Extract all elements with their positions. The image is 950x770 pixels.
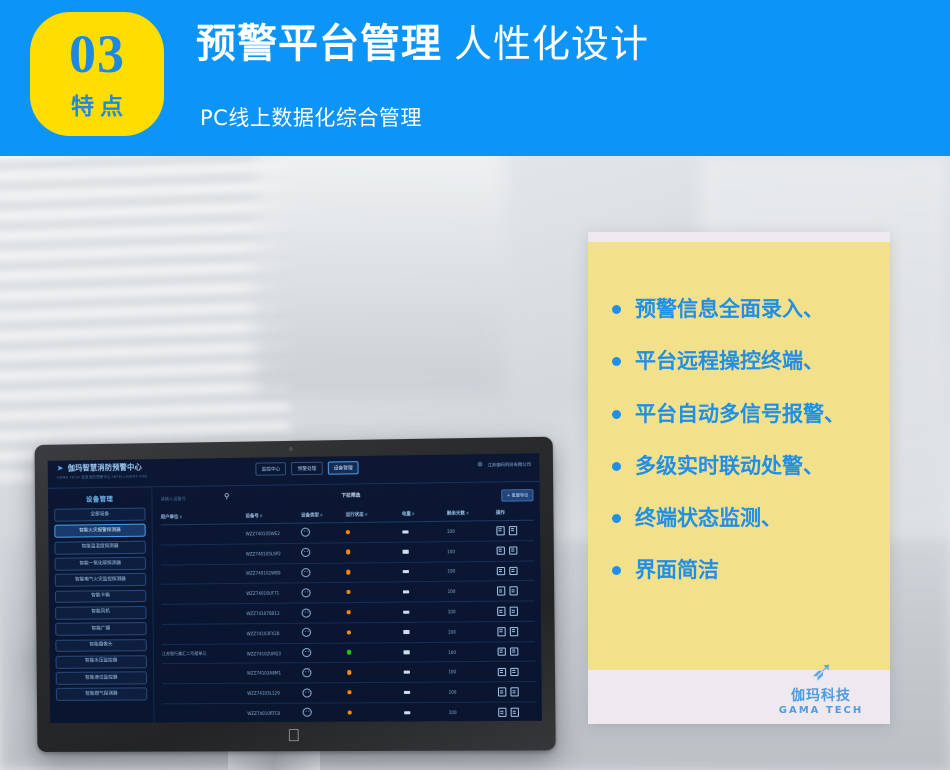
- detector-icon: [302, 588, 311, 597]
- status-badge: [346, 590, 351, 594]
- cell-device-id: WZZ74010UF71: [246, 583, 302, 604]
- company-name: 江苏伽玛科技有限公司: [488, 462, 532, 469]
- cell-unit: [162, 664, 247, 684]
- cell-battery: [403, 642, 448, 662]
- cell-battery: [402, 562, 447, 583]
- cell-device-type: [302, 603, 347, 623]
- battery-icon: [403, 650, 409, 653]
- nav-item-alarm-handling[interactable]: 预警处理: [291, 462, 322, 476]
- cell-unit: [161, 524, 246, 545]
- cell-device-type: [301, 523, 346, 544]
- cell-days-left: 100: [448, 682, 497, 702]
- sidebar-title: 设备管理: [54, 493, 145, 503]
- sidebar-item-gas-detector[interactable]: 智能燃气探测器: [56, 688, 147, 701]
- cell-days-left: 100: [448, 601, 497, 622]
- cell-status: [347, 602, 403, 623]
- sidebar-item-smart-broadcast[interactable]: 智能广播: [55, 622, 146, 636]
- detector-icon: [302, 648, 311, 657]
- edit-icon[interactable]: [497, 667, 505, 676]
- delete-icon[interactable]: [510, 688, 518, 697]
- cell-device-id: WZZ740105WE2: [245, 523, 301, 544]
- page-title-bold: 预警平台管理: [196, 21, 442, 67]
- badge-label: 特点: [71, 87, 129, 121]
- page-subtitle: PC线上数据化综合管理: [200, 102, 422, 132]
- cell-unit: [161, 584, 246, 605]
- cell-unit: [161, 564, 246, 585]
- sidebar-item-co-detector[interactable]: 智能一氧化碳探测器: [55, 557, 146, 571]
- cell-device-id: WZZ74105L129: [247, 683, 303, 703]
- bullet-icon: [612, 305, 621, 314]
- cell-status: [347, 622, 403, 643]
- column-header-battery[interactable]: 电量⇵: [402, 507, 447, 522]
- app-logo-text: 伽玛智慧消防预警中心: [68, 462, 142, 473]
- app-logo-subtext: GAMA TECH 智慧消防预警中心 INTELLIGENT FIRE: [57, 473, 148, 479]
- sidebar-item-fire-detector[interactable]: 智能火灾报警探测器: [54, 524, 145, 538]
- cell-status: [346, 542, 402, 563]
- cell-actions: [496, 581, 534, 602]
- cell-unit: 江苏智行美汇二号楼单元: [162, 644, 247, 665]
- status-badge: [347, 630, 352, 634]
- cell-status: [348, 703, 404, 723]
- cell-battery: [402, 582, 447, 603]
- cell-battery: [403, 682, 448, 702]
- detector-icon: [301, 548, 310, 557]
- header-banner: 03 特点 预警平台管理人性化设计 PC线上数据化综合管理: [0, 0, 950, 156]
- cell-days-left: 100: [448, 642, 497, 663]
- sidebar-item-smart-camera[interactable]: 智能摄像头: [55, 639, 146, 653]
- nav-item-device-management[interactable]: 设备管理: [328, 461, 359, 475]
- cell-actions: [497, 601, 535, 622]
- cell-status: [347, 683, 403, 703]
- column-header-status[interactable]: 运行状态⇵: [346, 507, 402, 522]
- edit-icon[interactable]: [497, 688, 505, 697]
- device-table: 用户单位⇵ 设备号⇵ 设备类型⇵ 运行状态⇵ 电量⇵ 剩余天数⇵ 操作: [161, 505, 536, 723]
- table-row[interactable]: WZZ74103A8M1100: [162, 662, 535, 684]
- cell-device-id: WZZ74010RTC8: [247, 703, 303, 723]
- list-item: 预警信息全面录入、: [612, 296, 882, 322]
- edit-icon[interactable]: [498, 708, 506, 717]
- sidebar-item-temp-humidity-detector[interactable]: 智能温湿度探测器: [54, 540, 145, 554]
- page-title-light: 人性化设计: [454, 22, 649, 66]
- apple-logo-icon: : [285, 727, 301, 745]
- cell-days-left: 100: [448, 662, 497, 682]
- section-badge: 03 特点: [30, 12, 164, 136]
- edit-icon[interactable]: [497, 607, 505, 616]
- feature-card-panel: 预警信息全面录入、 平台远程操控终端、 平台自动多信号报警、 多级实时联动处警、…: [588, 242, 890, 670]
- sidebar: 设备管理 全部设备 智能火灾报警探测器 智能温湿度探测器 智能一氧化碳探测器 智…: [48, 487, 155, 723]
- feature-list: 预警信息全面录入、 平台远程操控终端、 平台自动多信号报警、 多级实时联动处警、…: [612, 296, 882, 610]
- cell-device-id: WZZ740102WB9: [246, 563, 302, 584]
- feature-text: 终端状态监测、: [635, 505, 782, 531]
- app-user-area[interactable]: ⚙ 江苏伽玛科技有限公司: [477, 462, 531, 469]
- delete-icon[interactable]: [509, 566, 517, 575]
- detector-icon: [302, 608, 311, 617]
- battery-icon: [403, 671, 409, 674]
- cell-days-left: 100: [447, 581, 496, 602]
- detector-icon: [301, 528, 310, 537]
- feature-text: 预警信息全面录入、: [635, 296, 824, 322]
- app-logo[interactable]: ➤ 伽玛智慧消防预警中心: [57, 462, 142, 473]
- webcam-icon: [289, 447, 293, 451]
- edit-icon[interactable]: [497, 587, 505, 596]
- cell-status: [346, 522, 402, 543]
- app-nav: 监控中心 预警处理 设备管理: [255, 461, 358, 476]
- cell-device-id: WZZ740105L9P2: [246, 543, 302, 564]
- delete-icon[interactable]: [509, 546, 517, 555]
- delete-icon[interactable]: [509, 607, 517, 616]
- table-body: WZZ740105WE2100WZZ740105L9P2100WZZ740102…: [161, 520, 536, 723]
- cell-days-left: 100: [448, 622, 497, 643]
- cell-battery: [402, 541, 447, 562]
- table-row[interactable]: WZZ74103FX28100: [162, 621, 535, 644]
- table-row[interactable]: WZZ74105L129100: [162, 682, 535, 704]
- cell-unit: [161, 544, 246, 565]
- edit-icon[interactable]: [496, 546, 504, 555]
- bird-icon: ➶: [768, 657, 874, 685]
- content-area: 请输入设备号 ⚲ 下拉筛选 + 批量导出 用户单位⇵ 设备号⇵: [152, 482, 542, 723]
- cell-battery: [403, 662, 448, 682]
- battery-icon: [404, 711, 410, 714]
- battery-icon: [403, 610, 409, 613]
- cell-battery: [403, 602, 448, 623]
- window-blinds: [0, 156, 290, 480]
- promo-page: 03 特点 预警平台管理人性化设计 PC线上数据化综合管理 : [0, 0, 950, 770]
- detector-icon: [303, 708, 312, 717]
- battery-icon: [402, 530, 408, 534]
- cell-device-type: [303, 683, 348, 703]
- status-badge: [346, 570, 351, 574]
- badge-number: 03: [69, 27, 125, 81]
- cell-actions: [497, 621, 535, 641]
- status-badge: [347, 670, 352, 674]
- cell-days-left: 100: [447, 521, 496, 542]
- bullet-icon: [612, 514, 621, 523]
- detector-icon: [303, 688, 312, 697]
- computer-monitor:  ➤ 伽玛智慧消防预警中心 GAMA TECH 智慧消防预警中心 INTELL…: [35, 437, 556, 752]
- gear-icon[interactable]: ⚙: [477, 462, 483, 468]
- bullet-icon: [612, 410, 621, 419]
- cell-device-id: WZZ74107SB13: [246, 603, 302, 623]
- cell-device-id: WZZ74102UM23: [247, 643, 303, 663]
- column-header-days-left[interactable]: 剩余天数⇵: [447, 506, 496, 521]
- delete-icon[interactable]: [509, 627, 517, 636]
- cell-unit: [162, 683, 247, 703]
- sidebar-item-water-pressure-monitor[interactable]: 智能水压监控器: [56, 655, 147, 669]
- sidebar-item-smart-fan[interactable]: 智能风机: [55, 606, 146, 620]
- table-row[interactable]: 江苏智行美汇二号楼单元WZZ74102UM23100: [162, 641, 535, 664]
- cell-battery: [404, 702, 449, 722]
- cell-unit: [162, 703, 247, 722]
- list-item: 平台远程操控终端、: [612, 348, 882, 374]
- cell-actions: [497, 641, 535, 661]
- battery-icon: [403, 630, 409, 633]
- detector-icon: [302, 628, 311, 637]
- delete-icon[interactable]: [509, 587, 517, 596]
- edit-icon[interactable]: [496, 567, 504, 576]
- feature-text: 平台自动多信号报警、: [635, 401, 845, 427]
- cell-device-type: [302, 583, 347, 603]
- sidebar-item-electrical-fire-monitor[interactable]: 智能电气火灾监控探测器: [55, 573, 146, 587]
- column-header-unit[interactable]: 用户单位⇵: [161, 509, 246, 525]
- detector-icon: [302, 568, 311, 577]
- column-header-actions: 操作: [496, 505, 534, 520]
- status-badge: [346, 550, 351, 555]
- cell-status: [347, 642, 403, 662]
- edit-icon[interactable]: [496, 526, 504, 535]
- battery-icon: [402, 570, 408, 574]
- fire-alarm-app: ➤ 伽玛智慧消防预警中心 GAMA TECH 智慧消防预警中心 INTELLIG…: [48, 453, 542, 723]
- feature-text: 平台远程操控终端、: [635, 348, 824, 374]
- cell-battery: [402, 521, 447, 542]
- cell-days-left: 100: [447, 561, 496, 582]
- feature-text: 多级实时联动处警、: [635, 453, 824, 479]
- cell-device-id: WZZ74103A8M1: [247, 663, 303, 683]
- cell-device-type: [302, 623, 347, 643]
- cell-actions: [498, 702, 536, 722]
- battery-icon: [402, 590, 408, 594]
- delete-icon[interactable]: [510, 708, 518, 717]
- battery-icon: [402, 550, 408, 554]
- cell-days-left: 100: [447, 541, 496, 562]
- wall-panel: [255, 156, 505, 396]
- export-button[interactable]: + 批量导出: [502, 489, 534, 502]
- brand-name-cn: 伽玛科技: [768, 685, 874, 705]
- cell-actions: [496, 561, 534, 582]
- list-item: 多级实时联动处警、: [612, 453, 882, 479]
- bird-icon: ➤: [57, 465, 66, 473]
- delete-icon[interactable]: [510, 647, 518, 656]
- delete-icon[interactable]: [508, 526, 516, 535]
- cell-device-type: [302, 643, 347, 663]
- cell-status: [346, 582, 402, 603]
- nav-item-monitor-center[interactable]: 监控中心: [255, 462, 286, 476]
- filter-dropdown[interactable]: 下拉筛选: [341, 492, 360, 498]
- cell-unit: [162, 604, 247, 625]
- feature-text: 界面简洁: [635, 557, 719, 583]
- list-item: 界面简洁: [612, 557, 882, 583]
- bullet-icon: [612, 566, 621, 575]
- cell-status: [346, 562, 402, 583]
- bullet-icon: [612, 462, 621, 471]
- status-badge: [348, 710, 353, 714]
- sidebar-item-all-devices[interactable]: 全部设备: [54, 508, 145, 522]
- edit-icon[interactable]: [497, 647, 505, 656]
- search-input[interactable]: 请输入设备号: [160, 496, 185, 502]
- column-header-device-id[interactable]: 设备号⇵: [245, 508, 301, 523]
- column-header-device-type[interactable]: 设备类型⇵: [301, 508, 346, 523]
- cell-status: [347, 662, 403, 682]
- battery-icon: [403, 691, 409, 694]
- feature-card: 预警信息全面录入、 平台远程操控终端、 平台自动多信号报警、 多级实时联动处警、…: [588, 232, 890, 724]
- sidebar-item-smart-box[interactable]: 智能卡箱: [55, 589, 146, 603]
- cell-actions: [497, 662, 535, 682]
- brand-logo: ➶ 伽玛科技 GAMA TECH: [768, 657, 874, 716]
- page-title: 预警平台管理人性化设计: [196, 24, 649, 64]
- status-badge: [347, 610, 352, 614]
- cell-actions: [496, 540, 534, 561]
- cell-device-type: [303, 703, 348, 723]
- cell-unit: [162, 624, 247, 645]
- status-badge: [346, 530, 351, 535]
- status-badge: [347, 690, 352, 694]
- cell-days-left: 100: [449, 702, 498, 722]
- cell-device-type: [301, 543, 346, 564]
- bullet-icon: [612, 357, 621, 366]
- cell-battery: [403, 622, 448, 642]
- cell-device-type: [302, 663, 347, 683]
- list-item: 平台自动多信号报警、: [612, 401, 882, 427]
- status-badge: [347, 650, 352, 654]
- cell-actions: [497, 682, 535, 702]
- app-body: 设备管理 全部设备 智能火灾报警探测器 智能温湿度探测器 智能一氧化碳探测器 智…: [48, 482, 542, 723]
- monitor-screen: ➤ 伽玛智慧消防预警中心 GAMA TECH 智慧消防预警中心 INTELLIG…: [48, 453, 542, 723]
- edit-icon[interactable]: [497, 627, 505, 636]
- cell-device-id: WZZ74103FX28: [246, 623, 302, 643]
- brand-name-en: GAMA TECH: [768, 705, 874, 716]
- list-item: 终端状态监测、: [612, 505, 882, 531]
- table-row[interactable]: WZZ74010RTC8100: [162, 702, 535, 723]
- delete-icon[interactable]: [510, 667, 518, 676]
- detector-icon: [303, 668, 312, 677]
- sidebar-item-liquid-level-monitor[interactable]: 智能液位监控器: [56, 671, 147, 685]
- cell-device-type: [301, 563, 346, 583]
- cell-actions: [496, 520, 534, 541]
- search-icon[interactable]: ⚲: [222, 492, 231, 501]
